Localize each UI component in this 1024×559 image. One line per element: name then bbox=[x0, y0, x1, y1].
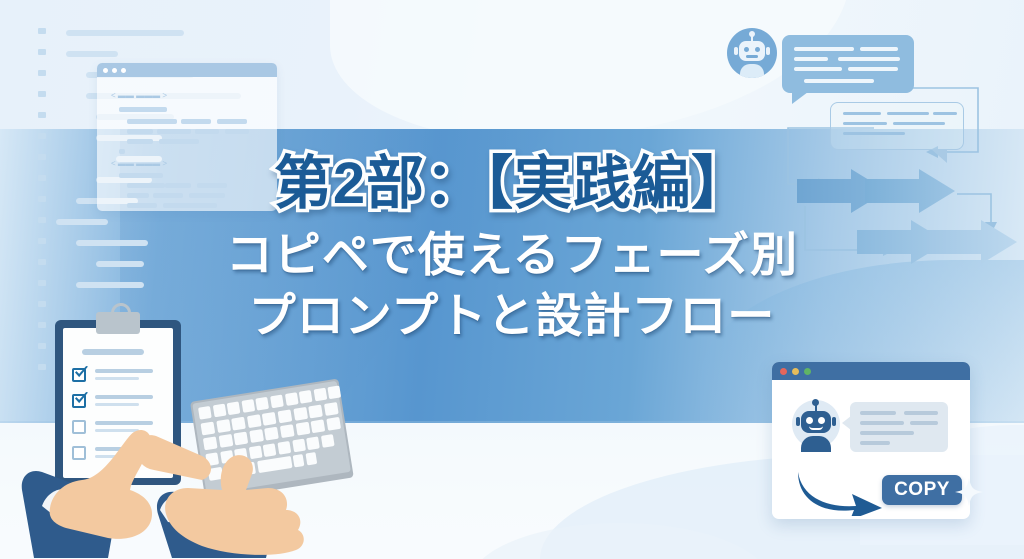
code-window-line bbox=[225, 129, 249, 134]
code-window-line bbox=[217, 119, 247, 124]
bubble-text-line bbox=[910, 421, 938, 425]
robot-body-icon bbox=[740, 64, 764, 78]
bubble-text-line bbox=[794, 47, 854, 51]
thumbnail-canvas: < ▬▬ ▬▬▬ >< ▬▬ ▬▬▬ > bbox=[0, 0, 1024, 559]
bubble-text-line bbox=[904, 411, 938, 415]
bubble-text-line bbox=[838, 57, 900, 61]
chat-bubble-filled bbox=[782, 35, 914, 93]
code-window-line bbox=[149, 119, 177, 124]
copy-window-titlebar bbox=[772, 362, 970, 380]
bubble-text-line bbox=[860, 431, 914, 435]
code-window-titlebar bbox=[97, 63, 277, 77]
code-gutter-mark bbox=[38, 91, 46, 97]
curved-arrow-icon bbox=[794, 468, 890, 516]
robot-mouth-icon bbox=[809, 426, 823, 430]
title-line-2: コピペで使えるフェーズ別 bbox=[0, 231, 1024, 278]
robot-eye-icon bbox=[806, 417, 813, 424]
code-window-line bbox=[159, 139, 199, 144]
bubble-text-line bbox=[860, 47, 898, 51]
copy-button[interactable]: COPY bbox=[882, 475, 962, 505]
title-block: 第2部：【実践編】 コピペで使えるフェーズ別 プロンプトと設計フロー bbox=[0, 155, 1024, 339]
bubble-text-line bbox=[804, 79, 874, 83]
code-window-line bbox=[119, 107, 167, 112]
bubble-text-line bbox=[893, 122, 945, 125]
robot-ear-icon bbox=[734, 47, 738, 55]
bubble-text-line bbox=[848, 67, 898, 71]
bubble-text-line bbox=[843, 122, 887, 125]
clipboard-row-subline bbox=[95, 377, 139, 380]
robot-ear-icon bbox=[832, 417, 836, 426]
robot-head-icon bbox=[739, 41, 765, 61]
bubble-text-line bbox=[794, 57, 828, 61]
code-gutter-mark bbox=[38, 133, 46, 139]
code-line bbox=[66, 30, 184, 36]
bubble-text-line bbox=[933, 112, 957, 115]
robot-ear-icon bbox=[796, 417, 800, 426]
robot-eye-icon bbox=[818, 417, 825, 424]
bubble-text-line bbox=[860, 441, 890, 445]
chat-bubble-outline bbox=[830, 102, 964, 150]
code-gutter-mark bbox=[38, 70, 46, 76]
robot-eye-icon bbox=[755, 47, 760, 52]
code-window-line bbox=[127, 129, 153, 134]
sparkle-icon bbox=[955, 478, 983, 506]
antenna-icon bbox=[751, 34, 753, 41]
code-line bbox=[66, 51, 118, 57]
code-gutter-mark bbox=[38, 343, 46, 349]
antenna-icon bbox=[815, 403, 817, 411]
maximize-dot-icon[interactable] bbox=[804, 368, 811, 375]
robot-body-icon bbox=[801, 436, 831, 452]
minimize-dot-icon[interactable] bbox=[792, 368, 799, 375]
hand-right-illustration bbox=[110, 398, 330, 559]
bubble-text-line bbox=[843, 132, 905, 135]
clipboard-row[interactable] bbox=[72, 368, 172, 388]
window-dot-icon bbox=[112, 68, 117, 73]
code-tag: < ▬▬ ▬▬▬ > bbox=[111, 91, 167, 100]
copy-window: COPY bbox=[772, 362, 970, 519]
clipboard-title-line bbox=[82, 349, 144, 355]
copy-window-body: COPY bbox=[772, 380, 970, 519]
bubble-text-line bbox=[860, 411, 896, 415]
window-dot-icon bbox=[103, 68, 108, 73]
title-line-1: 第2部：【実践編】 bbox=[0, 155, 1024, 213]
copy-window-message-bubble bbox=[850, 402, 948, 452]
robot-ear-icon bbox=[766, 47, 770, 55]
code-gutter-mark bbox=[38, 49, 46, 55]
window-dot-icon bbox=[121, 68, 126, 73]
clipboard-row-line bbox=[95, 369, 153, 373]
robot-avatar-icon bbox=[792, 400, 840, 448]
bubble-text-line bbox=[860, 421, 904, 425]
code-window-line bbox=[157, 129, 191, 134]
bubble-text-line bbox=[843, 112, 881, 115]
code-gutter-mark bbox=[38, 364, 46, 370]
code-window-line bbox=[119, 149, 125, 154]
close-dot-icon[interactable] bbox=[780, 368, 787, 375]
robot-avatar-icon bbox=[727, 28, 777, 78]
robot-mouth-icon bbox=[746, 55, 758, 58]
code-window-line bbox=[127, 139, 153, 144]
check-icon bbox=[74, 366, 89, 379]
robot-eye-icon bbox=[744, 47, 749, 52]
bubble-text-line bbox=[887, 112, 929, 115]
bubble-text-line bbox=[794, 67, 842, 71]
code-gutter-mark bbox=[38, 28, 46, 34]
code-window-line bbox=[195, 129, 219, 134]
title-line-3: プロンプトと設計フロー bbox=[0, 292, 1024, 339]
code-gutter-mark bbox=[38, 112, 46, 118]
code-window-line bbox=[181, 119, 211, 124]
